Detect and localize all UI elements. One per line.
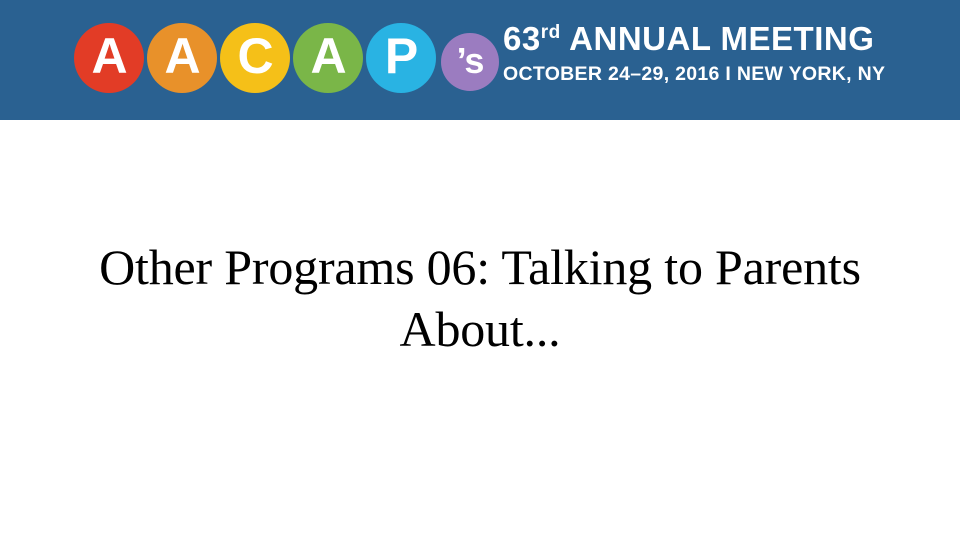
aacap-logo: A A C A P ’s 63rd ANNUAL MEE [0, 0, 960, 120]
logo-circle-a-green: A [293, 23, 363, 93]
meeting-ordinal-suffix: rd [541, 22, 561, 43]
meeting-number: 63 [503, 20, 541, 57]
aacap-header-banner: A A C A P ’s 63rd ANNUAL MEE [0, 0, 960, 120]
logo-letter-1: A [91, 31, 126, 81]
aacap-logo-circles: A A C A P ’s [74, 23, 502, 95]
logo-circle-c-yellow: C [220, 23, 290, 93]
meeting-name: ANNUAL MEETING [561, 20, 875, 57]
page-title: Other Programs 06: Talking to Parents Ab… [48, 236, 912, 360]
slide-title-block: Other Programs 06: Talking to Parents Ab… [48, 236, 912, 360]
presentation-slide: A A C A P ’s 63rd ANNUAL MEE [0, 0, 960, 540]
logo-letter-3: C [237, 31, 272, 81]
logo-letter-2: A [164, 31, 199, 81]
meeting-title-block: 63rd ANNUAL MEETING OCTOBER 24–29, 2016 … [503, 20, 885, 86]
logo-letter-5: P [385, 31, 417, 81]
logo-letter-6: ’s [457, 43, 484, 79]
meeting-name-line: 63rd ANNUAL MEETING [503, 20, 885, 58]
meeting-details-line: OCTOBER 24–29, 2016 I NEW YORK, NY [503, 62, 885, 86]
logo-letter-4: A [310, 31, 345, 81]
logo-circle-a-red: A [74, 23, 144, 93]
logo-circle-p-cyan: P [366, 23, 436, 93]
logo-circle-a-orange: A [147, 23, 217, 93]
logo-circle-apostrophe-s-purple: ’s [441, 33, 499, 91]
